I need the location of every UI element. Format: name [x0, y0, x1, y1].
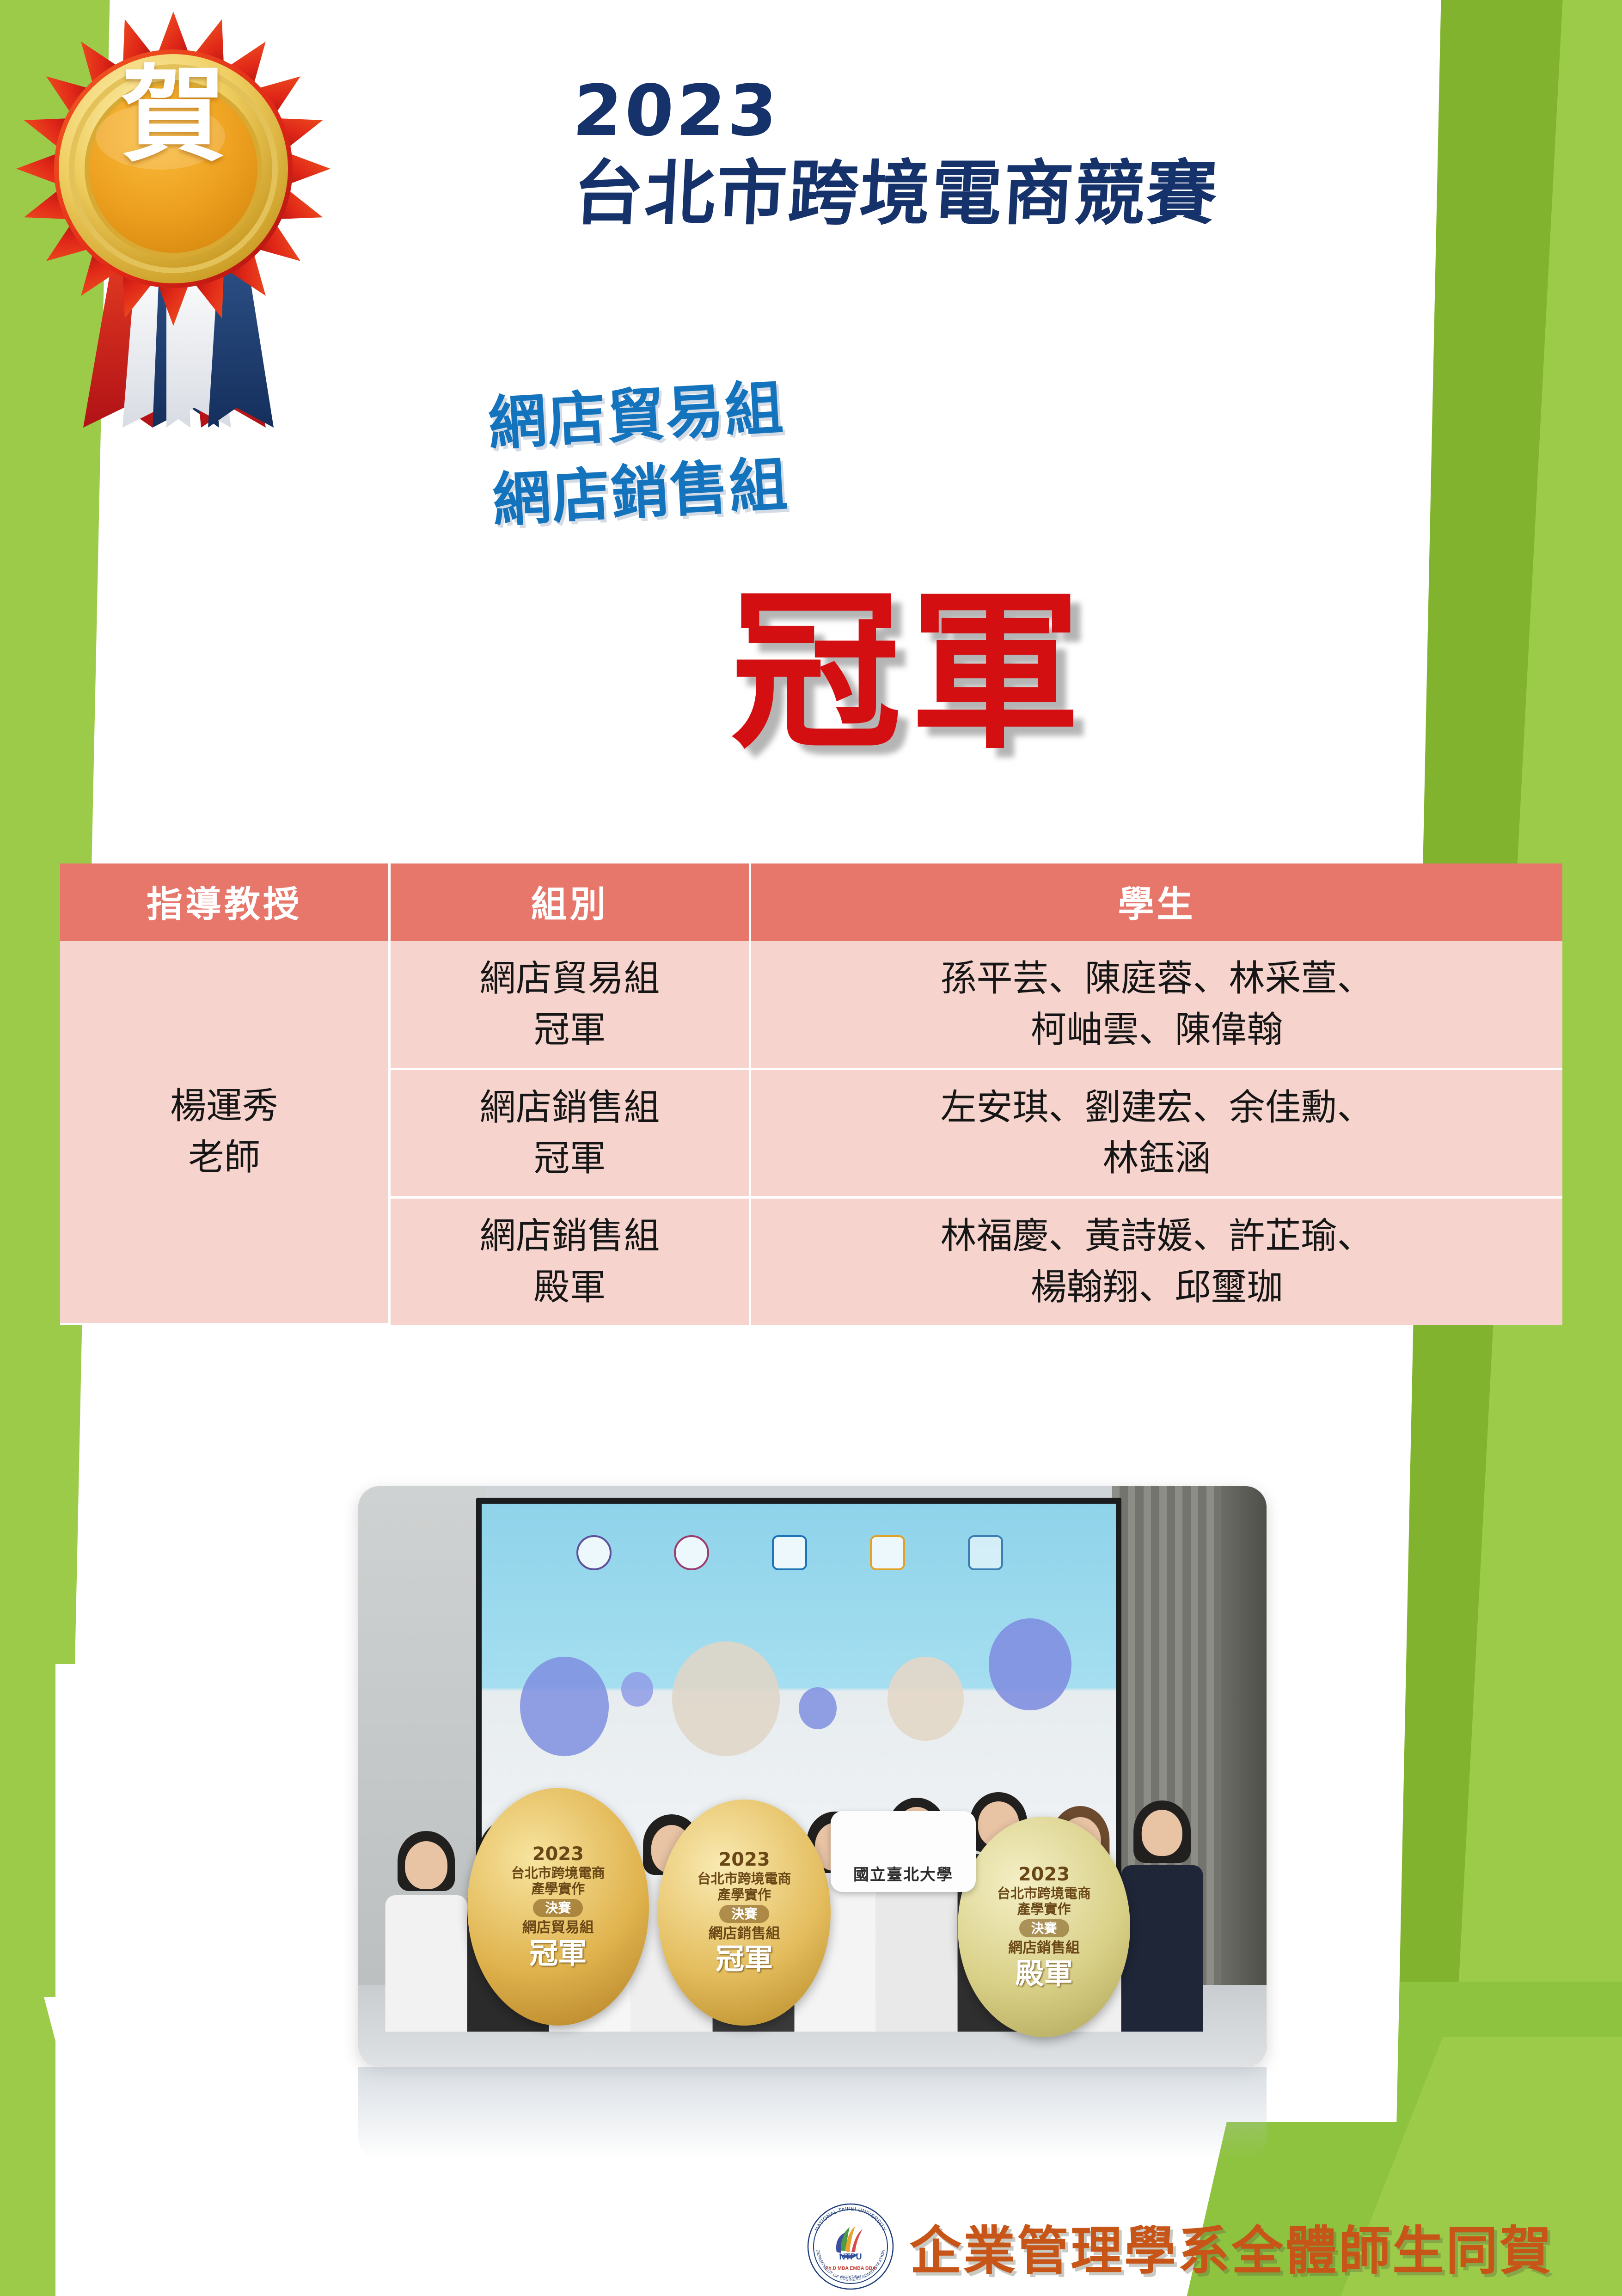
award-ceremony-photo: 台北市跨境電商產學實作決賽	[358, 1486, 1267, 2066]
plaque-rank: 冠軍	[529, 1936, 587, 1970]
group-rank: 冠軍	[397, 1133, 742, 1184]
sponsor-logo-icon	[576, 1535, 612, 1570]
plaque-org-line2: 產學實作	[717, 1887, 771, 1903]
footer-message: 企業管理學系全體師生同賀	[910, 2209, 1553, 2284]
sponsor-logo-icon	[968, 1535, 1003, 1570]
group-rank: 冠軍	[397, 1004, 742, 1056]
person	[1121, 1800, 1203, 2032]
sponsor-logo-icon	[674, 1535, 709, 1570]
poster-footer: NATIONAL TAIPEI UNIVERSITY DEPARTMENT OF…	[804, 2200, 1553, 2293]
award-plaque: 2023 台北市跨境電商 產學實作 決賽 網店銷售組 殿軍	[958, 1817, 1130, 2037]
group-rank: 殿軍	[397, 1262, 742, 1313]
plaque-org-line1: 台北市跨境電商	[698, 1871, 791, 1886]
sponsor-logo-icon	[870, 1535, 905, 1570]
plaque-org-line2: 產學實作	[1017, 1901, 1071, 1917]
award-results-table: 指導教授 組別 學生 楊運秀 老師 網店貿易組 冠軍 孫平芸、陳庭蓉、林采萱、 …	[60, 863, 1562, 1325]
column-header-students: 學生	[751, 863, 1562, 941]
heading-award-title: 冠軍	[730, 587, 1089, 758]
students-line: 林鈺涵	[758, 1133, 1556, 1184]
plaque-stage: 決賽	[719, 1905, 769, 1923]
plaque-org-line1: 台北市跨境電商	[997, 1886, 1091, 1901]
plaque-rank: 冠軍	[716, 1942, 773, 1976]
heading-year: 2023	[571, 74, 1500, 148]
heading-contest-name: 台北市跨境電商競賽	[571, 154, 1500, 233]
plaque-group: 網店銷售組	[1008, 1940, 1080, 1957]
plaque-stage: 決賽	[1019, 1919, 1069, 1937]
cell-group: 網店銷售組 冠軍	[391, 1070, 751, 1199]
plaque-year: 2023	[533, 1843, 584, 1865]
students-line: 楊翰翔、邱璽珈	[758, 1262, 1556, 1313]
plaque-year: 2023	[1018, 1864, 1070, 1886]
cell-group: 網店貿易組 冠軍	[391, 941, 751, 1070]
plaque-org-line1: 台北市跨境電商	[511, 1865, 605, 1881]
svg-text:NTPU: NTPU	[839, 2252, 862, 2261]
cell-professor: 楊運秀 老師	[60, 941, 391, 1325]
plaque-org-line2: 產學實作	[531, 1881, 585, 1897]
students-line: 孫平芸、陳庭蓉、林采萱、	[758, 953, 1556, 1004]
group-name: 網店貿易組	[397, 953, 742, 1004]
poster-heading: 2023 台北市跨境電商競賽	[573, 74, 1498, 233]
award-plaque: 2023 台北市跨境電商 產學實作 決賽 網店貿易組 冠軍	[467, 1788, 649, 2026]
award-rosette-icon: 賀	[14, 9, 333, 453]
plaque-rank: 殿軍	[1016, 1957, 1073, 1990]
column-header-professor: 指導教授	[60, 863, 391, 941]
professor-title: 老師	[67, 1132, 382, 1183]
cell-students: 孫平芸、陳庭蓉、林采萱、 柯岫雲、陳偉翰	[751, 941, 1562, 1070]
poster-root: 賀 2023 台北市跨境電商競賽 網店貿易組 網店銷售組 冠軍 指導教授 組別 …	[0, 0, 1622, 2296]
sponsor-logo-icon	[772, 1535, 807, 1570]
cell-students: 左安琪、劉建宏、余佳勳、 林鈺涵	[751, 1070, 1562, 1199]
plaque-stage: 決賽	[533, 1899, 583, 1917]
cell-group: 網店銷售組 殿軍	[391, 1199, 751, 1325]
group-name: 網店銷售組	[397, 1211, 742, 1262]
cell-students: 林福慶、黃詩媛、許芷瑜、 楊翰翔、邱璽珈	[751, 1199, 1562, 1325]
svg-text:Since1950: Since1950	[840, 2274, 861, 2279]
badge-character: 賀	[14, 64, 333, 168]
award-plaque: 2023 台北市跨境電商 產學實作 決賽 網店銷售組 冠軍	[658, 1800, 830, 2026]
ntpu-logo-icon: NATIONAL TAIPEI UNIVERSITY DEPARTMENT OF…	[804, 2200, 897, 2293]
plaque-group: 網店銷售組	[709, 1925, 780, 1942]
svg-text:Ph.D MBA EMBA BBA: Ph.D MBA EMBA BBA	[825, 2265, 876, 2271]
green-wedge-bottomleft	[0, 1908, 129, 2296]
plaque-year: 2023	[718, 1849, 770, 1871]
heading-group-list: 網店貿易組 網店銷售組	[486, 345, 1233, 539]
plaque-group: 網店貿易組	[522, 1919, 594, 1936]
svg-text:NATIONAL TAIPEI UNIVERSITY: NATIONAL TAIPEI UNIVERSITY	[814, 2206, 887, 2232]
person	[386, 1831, 467, 2032]
photo-reflection	[358, 2067, 1267, 2160]
table-header-row: 指導教授 組別 學生	[60, 863, 1562, 941]
photo-sponsor-logos	[576, 1527, 1004, 1579]
university-name-sign: 國立臺北大學	[831, 1811, 976, 1892]
table-row: 楊運秀 老師 網店貿易組 冠軍 孫平芸、陳庭蓉、林采萱、 柯岫雲、陳偉翰	[60, 941, 1562, 1070]
students-line: 柯岫雲、陳偉翰	[758, 1004, 1556, 1056]
professor-name: 楊運秀	[67, 1081, 382, 1132]
column-header-group: 組別	[391, 863, 751, 941]
group-name: 網店銷售組	[397, 1082, 742, 1133]
students-line: 林福慶、黃詩媛、許芷瑜、	[758, 1211, 1556, 1262]
university-sign-text: 國立臺北大學	[853, 1862, 953, 1885]
students-line: 左安琪、劉建宏、余佳勳、	[758, 1082, 1556, 1133]
